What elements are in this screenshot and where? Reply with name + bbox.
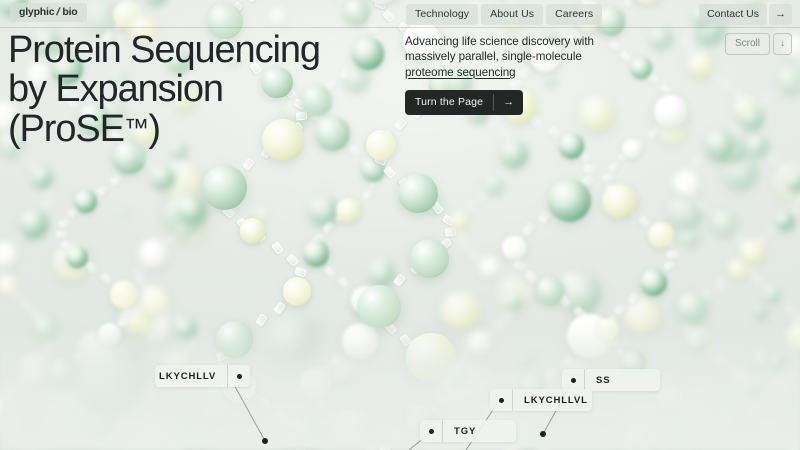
scroll-label: Scroll <box>725 33 770 55</box>
logo-text-before: glyphic <box>19 6 54 18</box>
annotation-dot-icon <box>420 429 442 434</box>
annotation-label: SS <box>585 375 614 386</box>
annotation-dot-icon <box>228 374 250 379</box>
nav-item-technology[interactable]: Technology <box>406 4 478 25</box>
scroll-indicator[interactable]: Scroll ↓ <box>725 33 792 55</box>
annotation-dot-icon <box>562 378 584 383</box>
nav-item-about-us[interactable]: About Us <box>481 4 543 25</box>
annotation-pill-lkychllv[interactable]: LKYCHLLV <box>155 365 250 387</box>
annotation-pill-tgy[interactable]: TGY <box>420 420 516 442</box>
annotation-label: LKYCHLLVL <box>513 395 592 406</box>
leader-endpoint-lkychllvl <box>540 431 546 437</box>
contact-us-label: Contact Us <box>699 4 767 25</box>
annotation-label: TGY <box>443 426 480 437</box>
nav-item-careers[interactable]: Careers <box>546 4 602 25</box>
annotation-label: LKYCHLLV <box>155 371 227 382</box>
contact-us-button[interactable]: Contact Us → <box>699 4 792 25</box>
logo[interactable]: glyphic / bio <box>10 3 87 22</box>
annotation-dot-icon <box>490 398 512 403</box>
logo-text-after: bio <box>62 6 77 18</box>
arrow-down-icon: ↓ <box>773 33 792 55</box>
site-header: glyphic / bio Technology About Us Career… <box>0 0 800 28</box>
arrow-right-icon: → <box>769 4 792 25</box>
annotation-pill-lkychllvl[interactable]: LKYCHLLVL <box>490 389 592 411</box>
annotation-pill-ss[interactable]: SS <box>562 369 660 391</box>
leader-line-lkychllv <box>0 0 800 450</box>
leader-endpoint-lkychllv <box>262 438 268 444</box>
main-navigation: Technology About Us Careers <box>406 4 602 25</box>
